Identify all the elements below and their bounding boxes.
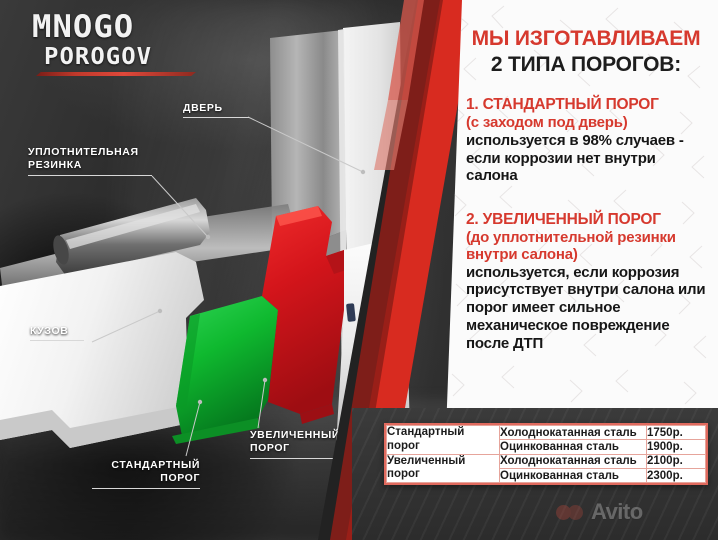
- callout-body: КУЗОВ: [30, 325, 88, 341]
- callout-seal-underline: [28, 175, 152, 176]
- price-material: Холоднокатанная сталь: [500, 426, 647, 440]
- callout-door-text: ДВЕРЬ: [183, 102, 223, 114]
- price-type-standard: Стандартный порог: [387, 426, 500, 455]
- table-row: Стандартный порог Холоднокатанная сталь …: [387, 426, 706, 440]
- info-block-2-heading: 2. УВЕЛИЧЕННЫЙ ПОРОГ: [466, 211, 706, 229]
- price-value: 2100р.: [647, 454, 706, 468]
- info-block-1-subheading: (с заходом под дверь): [466, 114, 706, 131]
- callout-body-underline: [30, 340, 84, 341]
- leader-body-dot: [158, 309, 162, 313]
- info-block-2-subheading: (до уплотнительной резинки внутри салона…: [466, 229, 706, 263]
- leader-increased-dot: [263, 378, 267, 382]
- price-material: Оцинкованная сталь: [500, 468, 647, 482]
- callout-increased-sill-text: УВЕЛИЧЕННЫЙ ПОРОГ: [250, 429, 340, 454]
- callout-body-text: КУЗОВ: [30, 325, 68, 337]
- info-block-1: 1. СТАНДАРТНЫЙ ПОРОГ (с заходом под двер…: [466, 96, 706, 185]
- infographic-canvas: MNOGO POROGOV: [0, 0, 718, 540]
- price-type-increased: Увеличенный порог: [387, 454, 500, 483]
- price-table: Стандартный порог Холоднокатанная сталь …: [384, 423, 708, 485]
- price-value: 2300р.: [647, 468, 706, 482]
- info-block-1-heading: 1. СТАНДАРТНЫЙ ПОРОГ: [466, 96, 706, 114]
- callout-door-underline: [183, 117, 249, 118]
- callout-seal: УПЛОТНИТЕЛЬНАЯ РЕЗИНКА: [28, 146, 158, 176]
- leader-seal-dot: [206, 235, 210, 239]
- table-row: Увеличенный порог Холоднокатанная сталь …: [387, 454, 706, 468]
- leader-standard-dot: [198, 400, 202, 404]
- callout-increased-sill-underline: [250, 458, 346, 459]
- callout-door: ДВЕРЬ: [183, 102, 253, 118]
- price-material: Холоднокатанная сталь: [500, 454, 647, 468]
- info-block-1-body: используется в 98% случаев - если корроз…: [466, 132, 706, 185]
- callout-seal-text: УПЛОТНИТЕЛЬНАЯ РЕЗИНКА: [28, 146, 139, 171]
- price-material: Оцинкованная сталь: [500, 440, 647, 454]
- callout-standard-sill: СТАНДАРТНЫЙ ПОРОГ: [88, 459, 200, 489]
- info-block-2: 2. УВЕЛИЧЕННЫЙ ПОРОГ (до уплотнительной …: [466, 211, 706, 352]
- leader-door-dot: [361, 170, 365, 174]
- callout-standard-sill-underline: [92, 488, 200, 489]
- panel-headline-black: 2 ТИПА ПОРОГОВ:: [466, 54, 706, 76]
- info-block-2-body: используется, если коррозия присутствует…: [466, 264, 706, 352]
- price-value: 1900р.: [647, 440, 706, 454]
- callout-increased-sill: УВЕЛИЧЕННЫЙ ПОРОГ: [250, 429, 350, 459]
- price-value: 1750р.: [647, 426, 706, 440]
- panel-content: МЫ ИЗГОТАВЛИВАЕМ 2 ТИПА ПОРОГОВ: 1. СТАН…: [442, 28, 718, 352]
- callout-standard-sill-text: СТАНДАРТНЫЙ ПОРОГ: [111, 459, 200, 484]
- panel-headline-red: МЫ ИЗГОТАВЛИВАЕМ: [466, 28, 706, 50]
